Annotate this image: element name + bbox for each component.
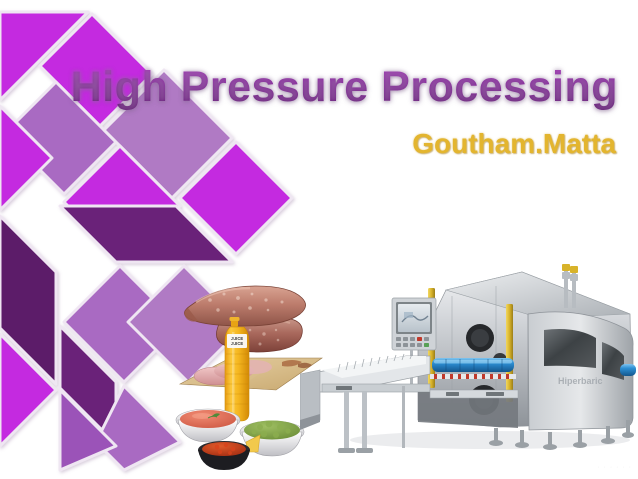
yellow-safety-post-right: [506, 304, 513, 402]
mosaic-tile: [64, 266, 180, 382]
mosaic-tile: [64, 146, 180, 262]
machine-brand-label: Hiperbaric: [558, 376, 603, 386]
salami-sausages: [184, 286, 305, 326]
title-slide: High Pressure Processing High Pressure P…: [0, 0, 638, 479]
title-block: High Pressure Processing High Pressure P…: [0, 62, 628, 112]
page-title: High Pressure Processing: [71, 62, 618, 112]
mosaic-tile: [0, 216, 56, 384]
mosaic-tile: [60, 326, 116, 444]
corner-watermark: · · · · · ·: [597, 464, 632, 471]
machine-base-skirt: [418, 390, 518, 428]
hpp-machine-image: Hiperbaric: [300, 252, 638, 474]
mosaic-tile: [60, 206, 232, 262]
orange-juice-bottle: JUICE JUICE: [225, 317, 249, 421]
support-rod: [402, 386, 405, 448]
mosaic-tile: [0, 334, 56, 446]
carrier-rollers: [430, 374, 516, 379]
author-name: Goutham.Matta: [412, 127, 616, 161]
mosaic-tile: [60, 390, 116, 470]
mosaic-tile: [96, 386, 180, 470]
inspection-window-left: [544, 329, 596, 368]
tomato-gazpacho-bowl: [176, 409, 240, 442]
blue-outlet-port: [620, 364, 636, 376]
subtitle-block: Goutham.Matta: [0, 127, 628, 161]
